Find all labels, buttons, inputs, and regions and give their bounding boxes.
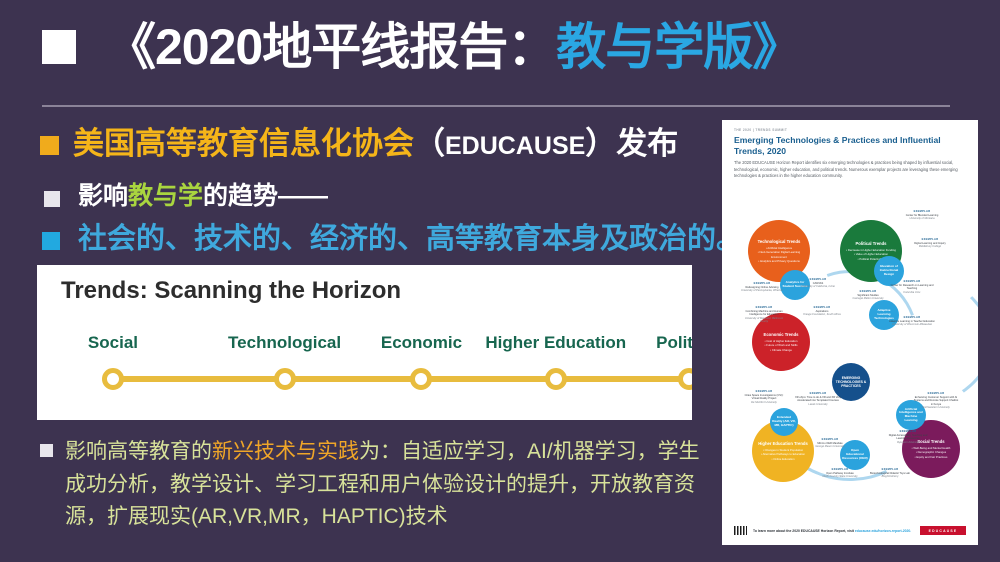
poster-exemplar: EXEMPLARBiotechnological Didactic Toys L…: [867, 468, 913, 479]
bullet-row-3-text: 社会的、技术的、经济的、高等教育本身及政治的。: [78, 224, 745, 254]
header-divider: [42, 105, 950, 107]
exemplar-org: University of Pennsylvania, Wharton: [741, 289, 783, 292]
bullet-row-2: 影响教与学的趋势——: [44, 183, 328, 209]
exemplar-org: Leeds University: [808, 403, 827, 406]
exemplar-org: University of California, Irvine: [801, 285, 835, 288]
exemplar-org: Northwestern University: [922, 406, 950, 409]
timeline-line: [113, 376, 692, 382]
exemplar-tag: EXEMPLAR: [860, 290, 877, 293]
timeline-label: Economic: [381, 333, 462, 353]
poster-exemplar: EXEMPLARCenter for Blended LearningUnive…: [899, 210, 945, 221]
exemplar-name: Digital Accessibility, Teaching and Lear…: [885, 434, 931, 441]
exemplar-tag: EXEMPLAR: [756, 306, 773, 309]
exemplar-tag: EXEMPLAR: [914, 210, 931, 213]
timeline-node-icon: [678, 368, 692, 390]
exemplar-org: North Country State University: [822, 475, 857, 478]
poster-exemplar: EXEMPLARDigital Learning and InquiryMidd…: [907, 238, 953, 249]
poster-footer-text: To learn more about the 2020 EDUCAUSE Ho…: [753, 529, 914, 533]
slide: 《2020地平线报告：教与学版》 美国高等教育信息化协会（EDUCAUSE）发布…: [0, 0, 1000, 562]
poster-exemplar: EXEMPLARCities Space Investigations (CSI…: [741, 390, 787, 404]
exemplar-org: Ryerson University: [897, 441, 919, 444]
exemplar-name: Cities Space Investigations (CSI): Virtu…: [741, 394, 787, 401]
exemplar-tag: EXEMPLAR: [822, 438, 839, 441]
bullet1-paren-close: ）: [585, 126, 616, 161]
exemplar-tag: EXEMPLAR: [904, 280, 921, 283]
exemplar-org: George Mason University: [815, 445, 844, 448]
trends-image-card: Trends: Scanning the Horizon SocialTechn…: [37, 265, 692, 420]
trends-timeline: SocialTechnologicalEconomicHigher Educat…: [37, 363, 692, 393]
exemplar-tag: EXEMPLAR: [832, 468, 849, 471]
bullet1-part1: 美国高等教育信息化协会: [73, 126, 414, 161]
poster-exemplar: EXEMPLARSignificant StudiesCarnegie Mell…: [845, 290, 891, 301]
exemplar-tag: EXEMPLAR: [754, 282, 771, 285]
exemplar-tag: EXEMPLAR: [928, 392, 945, 395]
poster-exemplar: EXEMPLARCombining Machine and Human Inte…: [741, 306, 787, 324]
exemplar-org: University of Maryland, Baltimore County: [745, 317, 783, 324]
bullet-row-1: 美国高等教育信息化协会（EDUCAUSE）发布: [40, 128, 678, 161]
bullet1-org: EDUCAUSE: [445, 132, 585, 160]
cyan-square-bullet-icon: [42, 232, 60, 250]
poster-header: THE 2020 | TRENDS SUMMIT Emerging Techno…: [734, 128, 966, 180]
exemplar-tag: EXEMPLAR: [922, 238, 939, 241]
white-square-bullet-icon: [44, 191, 60, 207]
exemplar-tag: EXEMPLAR: [810, 278, 827, 281]
bullet-row-3: 社会的、技术的、经济的、高等教育本身及政治的。: [42, 224, 745, 254]
timeline-node-icon: [102, 368, 124, 390]
bullet-row-1-text: 美国高等教育信息化协会（EDUCAUSE）发布: [73, 128, 678, 161]
gold-square-bullet-icon: [40, 136, 59, 155]
exemplar-org: BlogOntoFerry: [882, 475, 899, 478]
title-main: 《2020地平线报告：: [106, 19, 556, 75]
timeline-node-icon: [274, 368, 296, 390]
poster-body: The 2020 EDUCAUSE Horizon Report identif…: [734, 160, 966, 179]
exemplar-org: De Montfort University: [751, 401, 777, 404]
trend-item: • Next-Generation Digital Learning Envir…: [751, 250, 807, 258]
trends-card-title: Trends: Scanning the Horizon: [61, 277, 401, 305]
poster-practice-extended-reality: Extended Reality (AR, VR, MR, HAPTIC): [770, 408, 798, 436]
trend-name: Higher Education Trends: [758, 441, 808, 446]
exemplar-org: Columbia Univ.: [903, 291, 920, 294]
bullet2-part2: 的趋势——: [203, 182, 328, 210]
para-highlight: 新兴技术与实践: [212, 440, 359, 463]
page-title: 《2020地平线报告：教与学版》: [42, 22, 801, 72]
poster-exemplar: EXEMPLARRedesigning Online AdvisingUnive…: [739, 282, 785, 293]
exemplar-org: Middlebury College: [919, 245, 941, 248]
poster-exemplar: EXEMPLARCenter for Research on Learning …: [889, 280, 935, 294]
creative-commons-icon: [734, 526, 747, 535]
title-square-bullet-icon: [42, 30, 76, 64]
exemplar-tag: EXEMPLAR: [814, 306, 831, 309]
bottom-paragraph: 影响高等教育的新兴技术与实践为：自适应学习，AI/机器学习，学生成功分析，教学设…: [40, 436, 720, 534]
poster-exemplar: EXEMPLARXR eXpo: Time to do-It-XR and XR…: [795, 392, 841, 406]
trend-item: • Equity and Fair Practices: [915, 455, 948, 459]
trend-item: • Analytics and Privacy Questions: [758, 259, 800, 263]
paragraph-square-bullet-icon: [40, 444, 53, 457]
trend-item: • Climate Change: [770, 348, 792, 352]
timeline-label: Social: [88, 333, 138, 353]
bullet-row-2-text: 影响教与学的趋势——: [78, 183, 328, 209]
poster-footer: To learn more about the 2020 EDUCAUSE Ho…: [734, 526, 966, 535]
exemplar-name: Center for Research on Learning and Teac…: [889, 284, 935, 291]
exemplar-tag: EXEMPLAR: [810, 392, 827, 395]
exemplar-name: XR eXpo: Time to do-It-XR and XR Very Ac…: [795, 396, 841, 403]
exemplar-org: Carnegie Mellon University: [853, 297, 884, 300]
bullet2-highlight: 教与学: [128, 182, 203, 210]
exemplar-org: University of Wisconsin-Milwaukee: [892, 323, 932, 326]
poster-exemplar: EXEMPLARMizzou OER MandateGeorge Mason U…: [807, 438, 853, 449]
title-accent: 教与学版》: [556, 19, 801, 75]
exemplar-org: University of Montana: [909, 217, 934, 220]
footer-text: To learn more about the 2020 EDUCAUSE Ho…: [753, 529, 855, 533]
bullet1-part2: 发布: [616, 126, 678, 161]
bottom-paragraph-text: 影响高等教育的新兴技术与实践为：自适应学习，AI/机器学习，学生成功分析，教学设…: [65, 436, 720, 534]
exemplar-name: Enhancing Customer Support with AI Syste…: [913, 396, 959, 407]
poster-exemplar: EXEMPLARDigital Accessibility, Teaching …: [885, 430, 931, 444]
timeline-label: Higher Education: [485, 333, 626, 353]
exemplar-name: Combining Machine and Human Intelligence…: [741, 310, 787, 317]
poster-exemplar: EXEMPLARAdaptive Learning in Teacher Edu…: [889, 316, 935, 327]
trend-name: Technological Trends: [758, 239, 801, 244]
educause-logo: EDUCAUSE: [920, 526, 966, 535]
poster-exemplar: EXEMPLARAspirationsKresge Foundation, So…: [799, 306, 845, 317]
footer-link[interactable]: educause.edu/horizon-report-2020.: [855, 529, 911, 533]
poster-exemplar: EXEMPLARCANVASUniversity of California, …: [795, 278, 841, 289]
timeline-label: Technological: [228, 333, 341, 353]
poster-exemplar: EXEMPLAREnhancing Customer Support with …: [913, 392, 959, 410]
exemplar-tag: EXEMPLAR: [900, 430, 917, 433]
educause-poster-image: THE 2020 | TRENDS SUMMIT Emerging Techno…: [722, 120, 978, 545]
title-text: 《2020地平线报告：教与学版》: [106, 22, 801, 72]
exemplar-tag: EXEMPLAR: [904, 316, 921, 319]
timeline-label: Political: [656, 333, 692, 353]
exemplar-org: Kresge Foundation, South Africa: [803, 313, 840, 316]
poster-title: Emerging Technologies & Practices and In…: [734, 135, 966, 156]
poster-kicker: THE 2020 | TRENDS SUMMIT: [734, 128, 966, 132]
bullet2-part1: 影响: [78, 182, 128, 210]
timeline-node-icon: [545, 368, 567, 390]
exemplar-tag: EXEMPLAR: [882, 468, 899, 471]
trend-name: Political Trends: [856, 241, 887, 246]
bullet1-paren-open: （: [414, 126, 445, 161]
trend-item: • Online Education: [771, 457, 794, 461]
hub-label: EMERGING TECHNOLOGIES & PRACTICES: [835, 376, 867, 388]
para-part1: 影响高等教育的: [65, 440, 212, 463]
timeline-node-icon: [410, 368, 432, 390]
poster-exemplar: EXEMPLAROpen Pathway IncubateNorth Count…: [817, 468, 863, 479]
exemplar-tag: EXEMPLAR: [756, 390, 773, 393]
trend-name: Economic Trends: [764, 332, 799, 337]
